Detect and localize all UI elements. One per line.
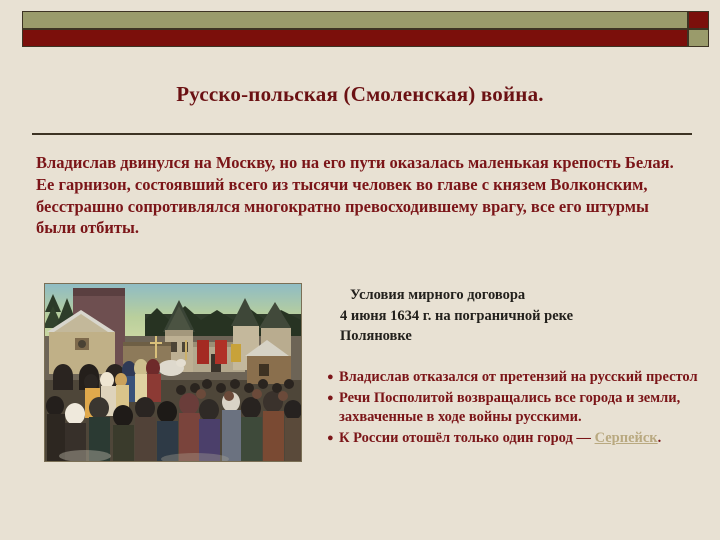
term-text-2: Речи Посполитой возвращались все города …	[339, 390, 680, 426]
header-bar-olive	[22, 11, 688, 29]
term-text-3-suffix: .	[658, 430, 662, 446]
list-item: Владислав отказался от претензий на русс…	[327, 368, 715, 388]
page-title: Русско-польская (Смоленская) война.	[0, 82, 720, 107]
term-text-3: К России отошёл только один город —	[339, 430, 595, 446]
term-text-1: Владислав отказался от претензий на русс…	[339, 369, 698, 385]
header-square-red	[688, 11, 709, 29]
treaty-heading-line-1: Условия мирного договора	[340, 285, 712, 306]
title-divider	[32, 133, 692, 135]
serpeysk-link[interactable]: Серпейск	[595, 430, 658, 446]
slide: Русско-польская (Смоленская) война. Влад…	[0, 0, 720, 540]
lead-paragraph: Владислав двинулся на Москву, но на его …	[36, 152, 688, 239]
illustration-painting	[44, 283, 302, 462]
painting-artwork	[45, 284, 301, 461]
list-item: Речи Посполитой возвращались все города …	[327, 389, 715, 428]
header-square-olive	[688, 29, 709, 47]
treaty-heading: Условия мирного договора 4 июня 1634 г. …	[340, 285, 712, 347]
list-item: К России отошёл только один город — Серп…	[327, 429, 715, 449]
treaty-heading-line-2: 4 июня 1634 г. на пограничной реке	[340, 306, 712, 327]
header-bar-red	[22, 29, 688, 47]
treaty-terms-list: Владислав отказался от претензий на русс…	[327, 368, 715, 449]
header-decoration	[0, 0, 720, 60]
treaty-heading-line-3: Поляновке	[340, 326, 712, 347]
